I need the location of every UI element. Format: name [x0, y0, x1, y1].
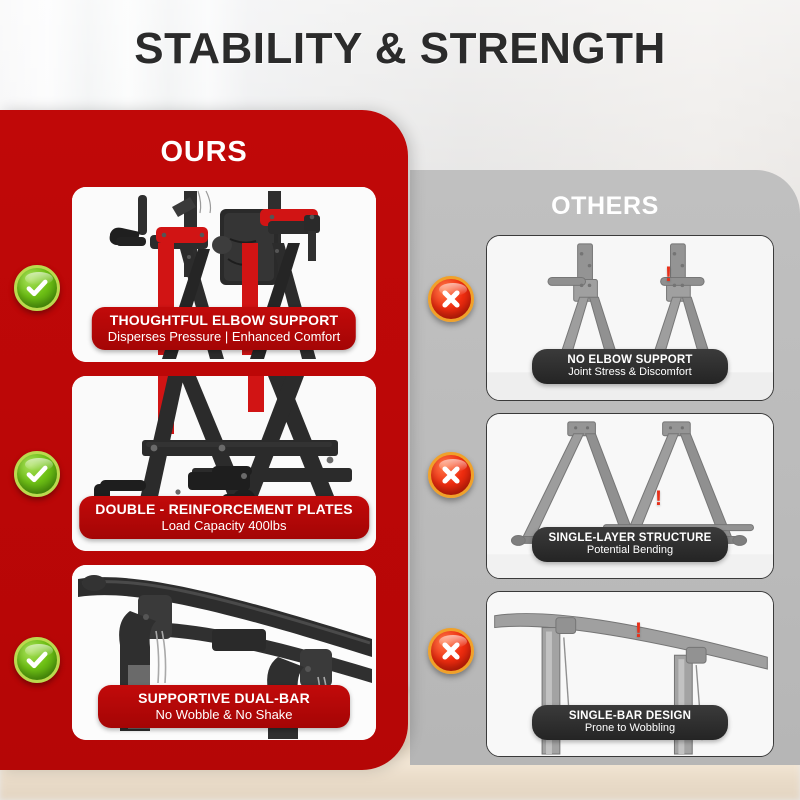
- cross-icon-2: [428, 452, 474, 498]
- check-glyph: [24, 275, 50, 301]
- warning-exclamation-icon: !: [635, 620, 642, 641]
- warning-exclamation-icon: !: [655, 488, 662, 509]
- others-caption-2-subtitle: Potential Bending: [548, 544, 712, 556]
- check-icon-3: [14, 637, 60, 683]
- others-caption-3-subtitle: Prone to Wobbling: [548, 722, 712, 734]
- others-caption-1-title: NO ELBOW SUPPORT: [548, 354, 712, 366]
- ours-card-2: DOUBLE - REINFORCEMENT PLATES Load Capac…: [72, 376, 376, 551]
- others-card-1: ! NO ELBOW SUPPORT Joint Stress & Discom…: [486, 235, 774, 401]
- ours-caption-2: DOUBLE - REINFORCEMENT PLATES Load Capac…: [79, 496, 369, 539]
- cross-icon-1: [428, 276, 474, 322]
- ours-card-1: THOUGHTFUL ELBOW SUPPORT Disperses Press…: [72, 187, 376, 362]
- others-caption-3-title: SINGLE-BAR DESIGN: [548, 710, 712, 722]
- others-caption-2-title: SINGLE-LAYER STRUCTURE: [548, 532, 712, 544]
- ours-caption-1-title: THOUGHTFUL ELBOW SUPPORT: [108, 312, 340, 328]
- others-caption-2: SINGLE-LAYER STRUCTURE Potential Bending: [532, 527, 728, 562]
- page-title-container: STABILITY & STRENGTH: [0, 24, 800, 74]
- ours-caption-1: THOUGHTFUL ELBOW SUPPORT Disperses Press…: [92, 307, 356, 350]
- cross-icon-3: [428, 628, 474, 674]
- ours-heading: OURS: [0, 110, 408, 169]
- ours-caption-3-subtitle: No Wobble & No Shake: [114, 707, 334, 722]
- others-heading: OTHERS: [410, 170, 800, 221]
- ours-card-3: SUPPORTIVE DUAL-BAR No Wobble & No Shake: [72, 565, 376, 740]
- page-title: STABILITY & STRENGTH: [0, 24, 800, 74]
- ours-caption-1-subtitle: Disperses Pressure | Enhanced Comfort: [108, 329, 340, 344]
- others-card-2: ! SINGLE-LAYER STRUCTURE Potential Bendi…: [486, 413, 774, 579]
- cross-glyph: [438, 638, 464, 664]
- check-icon-1: [14, 265, 60, 311]
- others-caption-3: SINGLE-BAR DESIGN Prone to Wobbling: [532, 705, 728, 740]
- ours-panel: OURS: [0, 110, 408, 770]
- ours-card-list: THOUGHTFUL ELBOW SUPPORT Disperses Press…: [0, 169, 408, 740]
- check-glyph: [24, 461, 50, 487]
- cross-glyph: [438, 286, 464, 312]
- check-glyph: [24, 647, 50, 673]
- cross-glyph: [438, 462, 464, 488]
- ours-caption-2-subtitle: Load Capacity 400lbs: [95, 518, 353, 533]
- ours-caption-3-title: SUPPORTIVE DUAL-BAR: [114, 690, 334, 706]
- check-icon-2: [14, 451, 60, 497]
- others-caption-1-subtitle: Joint Stress & Discomfort: [548, 366, 712, 378]
- warning-exclamation-icon: !: [665, 264, 672, 285]
- others-card-3: ! SINGLE-BAR DESIGN Prone to Wobbling: [486, 591, 774, 757]
- others-caption-1: NO ELBOW SUPPORT Joint Stress & Discomfo…: [532, 349, 728, 384]
- ours-caption-2-title: DOUBLE - REINFORCEMENT PLATES: [95, 501, 353, 517]
- ours-caption-3: SUPPORTIVE DUAL-BAR No Wobble & No Shake: [98, 685, 350, 728]
